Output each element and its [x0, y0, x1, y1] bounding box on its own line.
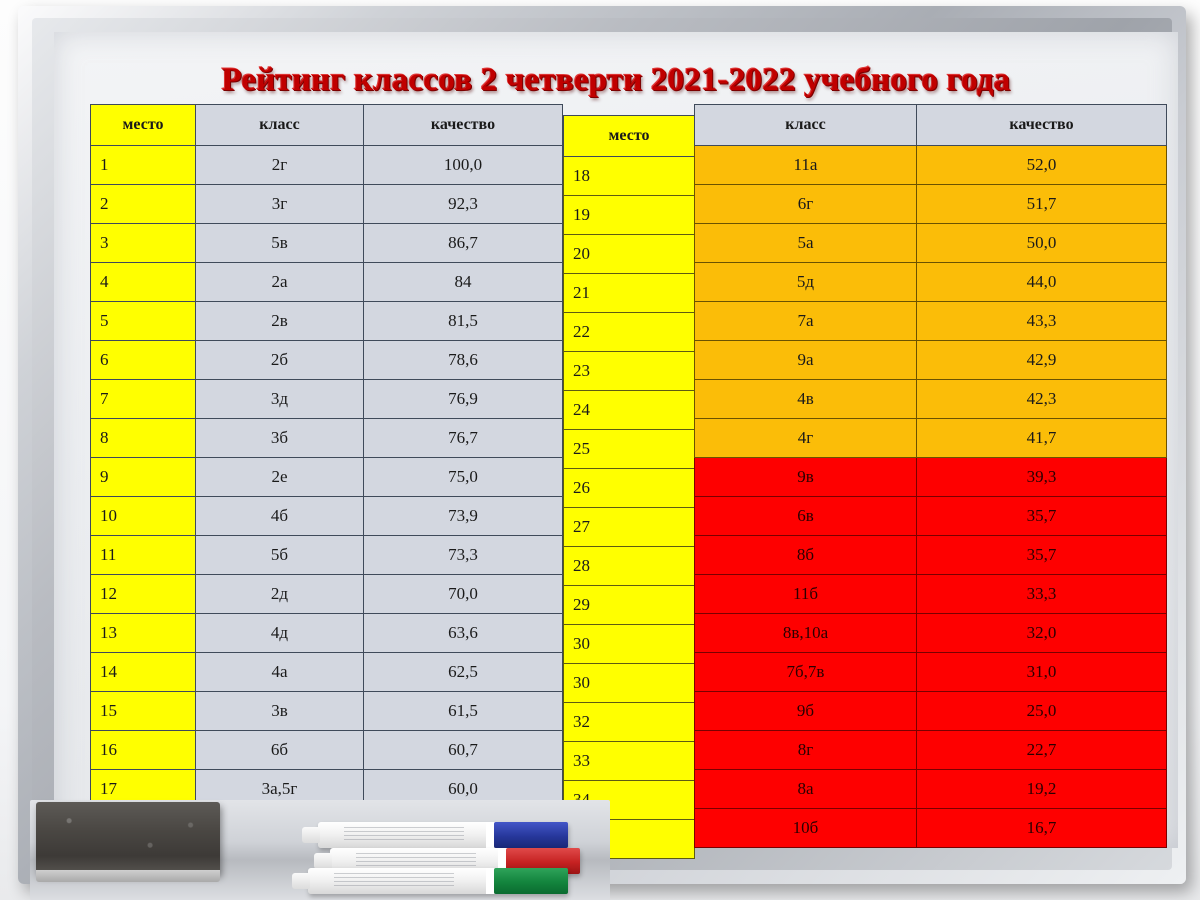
column-header-quality: качество	[917, 105, 1167, 146]
cell-class: 2г	[196, 146, 364, 185]
table-row: 35в86,7	[91, 224, 563, 263]
table-row: 9а42,9	[695, 341, 1167, 380]
table-row: 6в35,7	[695, 497, 1167, 536]
table-row: 8г22,7	[695, 731, 1167, 770]
cell-quality: 84	[364, 263, 563, 302]
cell-place: 26	[564, 469, 695, 508]
cell-quality: 81,5	[364, 302, 563, 341]
whiteboard-eraser[interactable]	[36, 802, 220, 874]
cell-place: 32	[564, 703, 695, 742]
table-row: 29	[564, 586, 695, 625]
whiteboard-scene: Рейтинг классов 2 четверти 2021-2022 уче…	[0, 0, 1200, 900]
cell-class: 5а	[695, 224, 917, 263]
table-row: 26	[564, 469, 695, 508]
cell-quality: 92,3	[364, 185, 563, 224]
table-row: 62б78,6	[91, 341, 563, 380]
cell-place: 20	[564, 235, 695, 274]
column-header-place: место	[91, 105, 196, 146]
table-row: 19	[564, 196, 695, 235]
column-header-class: класс	[695, 105, 917, 146]
table-header-row: место	[564, 116, 695, 157]
cell-quality: 60,7	[364, 731, 563, 770]
cell-class: 2б	[196, 341, 364, 380]
table-row: 12г100,0	[91, 146, 563, 185]
cell-place: 28	[564, 547, 695, 586]
cell-quality: 62,5	[364, 653, 563, 692]
marker-label	[356, 853, 476, 869]
cell-quality: 73,9	[364, 497, 563, 536]
table-row: 5а50,0	[695, 224, 1167, 263]
cell-quality: 63,6	[364, 614, 563, 653]
table-row: 27	[564, 508, 695, 547]
eraser-felt	[36, 870, 220, 882]
ranking-table-right-data: класс качество 11а52,06г51,75а50,05д44,0…	[694, 104, 1167, 848]
table-row: 8в,10а32,0	[695, 614, 1167, 653]
ranking-table-left-body: 12г100,023г92,335в86,742а8452в81,562б78,…	[91, 146, 563, 848]
table-row: 20	[564, 235, 695, 274]
table-row: 25	[564, 430, 695, 469]
cell-place: 11	[91, 536, 196, 575]
cell-quality: 35,7	[917, 536, 1167, 575]
cell-quality: 61,5	[364, 692, 563, 731]
ranking-table-right-place-body: 1819202122232425262728293030323334	[564, 157, 695, 859]
cell-class: 7а	[695, 302, 917, 341]
cell-quality: 75,0	[364, 458, 563, 497]
cell-place: 23	[564, 352, 695, 391]
cell-place: 19	[564, 196, 695, 235]
cell-class: 4г	[695, 419, 917, 458]
marker-tip	[292, 873, 310, 889]
cell-quality: 43,3	[917, 302, 1167, 341]
marker-label	[334, 873, 454, 889]
cell-quality: 25,0	[917, 692, 1167, 731]
table-row: 4г41,7	[695, 419, 1167, 458]
table-row: 18	[564, 157, 695, 196]
table-row: 166б60,7	[91, 731, 563, 770]
whiteboard-frame: Рейтинг классов 2 четверти 2021-2022 уче…	[18, 6, 1186, 884]
cell-class: 5д	[695, 263, 917, 302]
cell-class: 4б	[196, 497, 364, 536]
table-row: 5д44,0	[695, 263, 1167, 302]
table-row: 11б33,3	[695, 575, 1167, 614]
column-header-place: место	[564, 116, 695, 157]
table-row: 8а19,2	[695, 770, 1167, 809]
cell-class: 2е	[196, 458, 364, 497]
cell-place: 22	[564, 313, 695, 352]
table-row: 23г92,3	[91, 185, 563, 224]
cell-quality: 22,7	[917, 731, 1167, 770]
marker-ring	[486, 868, 494, 894]
cell-quality: 50,0	[917, 224, 1167, 263]
marker-cap	[494, 868, 568, 894]
table-row: 7а43,3	[695, 302, 1167, 341]
cell-class: 5б	[196, 536, 364, 575]
cell-place: 27	[564, 508, 695, 547]
cell-class: 7б,7в	[695, 653, 917, 692]
cell-place: 14	[91, 653, 196, 692]
marker-tip	[302, 827, 320, 843]
table-row: 21	[564, 274, 695, 313]
column-header-class: класс	[196, 105, 364, 146]
column-header-quality: качество	[364, 105, 563, 146]
cell-class: 11б	[695, 575, 917, 614]
cell-place: 25	[564, 430, 695, 469]
cell-class: 2в	[196, 302, 364, 341]
cell-class: 10б	[695, 809, 917, 848]
cell-place: 12	[91, 575, 196, 614]
cell-class: 3д	[196, 380, 364, 419]
cell-quality: 76,7	[364, 419, 563, 458]
cell-place: 30	[564, 664, 695, 703]
cell-quality: 51,7	[917, 185, 1167, 224]
cell-quality: 42,9	[917, 341, 1167, 380]
page-title: Рейтинг классов 2 четверти 2021-2022 уче…	[54, 62, 1178, 99]
table-row: 134д63,6	[91, 614, 563, 653]
cell-place: 8	[91, 419, 196, 458]
table-row: 92е75,0	[91, 458, 563, 497]
cell-place: 21	[564, 274, 695, 313]
marker-label	[344, 827, 464, 843]
table-row: 23	[564, 352, 695, 391]
cell-class: 3г	[196, 185, 364, 224]
table-row: 42а84	[91, 263, 563, 302]
table-row: 144а62,5	[91, 653, 563, 692]
table-row: 9б25,0	[695, 692, 1167, 731]
cell-quality: 100,0	[364, 146, 563, 185]
cell-place: 1	[91, 146, 196, 185]
table-row: 7б,7в31,0	[695, 653, 1167, 692]
cell-class: 9в	[695, 458, 917, 497]
cell-quality: 35,7	[917, 497, 1167, 536]
marker-blue[interactable]	[318, 822, 568, 848]
cell-place: 9	[91, 458, 196, 497]
cell-class: 8б	[695, 536, 917, 575]
cell-class: 3б	[196, 419, 364, 458]
marker-green[interactable]	[308, 868, 568, 894]
table-row: 11а52,0	[695, 146, 1167, 185]
cell-class: 4в	[695, 380, 917, 419]
cell-class: 2а	[196, 263, 364, 302]
cell-quality: 39,3	[917, 458, 1167, 497]
table-row: 122д70,0	[91, 575, 563, 614]
cell-class: 8а	[695, 770, 917, 809]
table-row: 24	[564, 391, 695, 430]
cell-quality: 86,7	[364, 224, 563, 263]
cell-place: 15	[91, 692, 196, 731]
cell-quality: 33,3	[917, 575, 1167, 614]
table-row: 73д76,9	[91, 380, 563, 419]
cell-quality: 19,2	[917, 770, 1167, 809]
cell-quality: 78,6	[364, 341, 563, 380]
table-row: 8б35,7	[695, 536, 1167, 575]
cell-class: 2д	[196, 575, 364, 614]
cell-place: 16	[91, 731, 196, 770]
cell-quality: 70,0	[364, 575, 563, 614]
cell-class: 3в	[196, 692, 364, 731]
marker-ring	[486, 822, 494, 848]
table-row: 52в81,5	[91, 302, 563, 341]
table-row: 6г51,7	[695, 185, 1167, 224]
cell-class: 6г	[695, 185, 917, 224]
cell-class: 5в	[196, 224, 364, 263]
table-row: 30	[564, 625, 695, 664]
cell-place: 24	[564, 391, 695, 430]
table-row: 115б73,3	[91, 536, 563, 575]
cell-place: 6	[91, 341, 196, 380]
table-row: 32	[564, 703, 695, 742]
marker-cap	[494, 822, 568, 848]
cell-quality: 42,3	[917, 380, 1167, 419]
cell-place: 4	[91, 263, 196, 302]
cell-class: 4а	[196, 653, 364, 692]
cell-place: 33	[564, 742, 695, 781]
table-row: 33	[564, 742, 695, 781]
cell-quality: 76,9	[364, 380, 563, 419]
cell-quality: 32,0	[917, 614, 1167, 653]
table-row: 104б73,9	[91, 497, 563, 536]
cell-place: 18	[564, 157, 695, 196]
table-header-row: место класс качество	[91, 105, 563, 146]
table-row: 83б76,7	[91, 419, 563, 458]
table-row: 28	[564, 547, 695, 586]
table-row: 30	[564, 664, 695, 703]
table-row: 153в61,5	[91, 692, 563, 731]
cell-quality: 31,0	[917, 653, 1167, 692]
cell-class: 9а	[695, 341, 917, 380]
marker-tip	[314, 853, 332, 869]
cell-place: 3	[91, 224, 196, 263]
cell-class: 6в	[695, 497, 917, 536]
cell-quality: 16,7	[917, 809, 1167, 848]
ranking-table-left: место класс качество 12г100,023г92,335в8…	[90, 104, 563, 848]
cell-class: 9б	[695, 692, 917, 731]
cell-class: 11а	[695, 146, 917, 185]
cell-quality: 41,7	[917, 419, 1167, 458]
cell-place: 13	[91, 614, 196, 653]
cell-place: 10	[91, 497, 196, 536]
table-row: 10б16,7	[695, 809, 1167, 848]
cell-place: 5	[91, 302, 196, 341]
cell-quality: 44,0	[917, 263, 1167, 302]
whiteboard-surface: Рейтинг классов 2 четверти 2021-2022 уче…	[54, 32, 1178, 848]
table-row: 9в39,3	[695, 458, 1167, 497]
cell-class: 8г	[695, 731, 917, 770]
ranking-table-right-place: место 1819202122232425262728293030323334	[563, 115, 695, 859]
cell-place: 7	[91, 380, 196, 419]
cell-quality: 73,3	[364, 536, 563, 575]
cell-class: 4д	[196, 614, 364, 653]
cell-place: 30	[564, 625, 695, 664]
table-row: 22	[564, 313, 695, 352]
table-row: 4в42,3	[695, 380, 1167, 419]
cell-quality: 52,0	[917, 146, 1167, 185]
ranking-table-right-data-body: 11а52,06г51,75а50,05д44,07а43,39а42,94в4…	[695, 146, 1167, 848]
cell-place: 2	[91, 185, 196, 224]
cell-place: 29	[564, 586, 695, 625]
cell-class: 6б	[196, 731, 364, 770]
table-header-row: класс качество	[695, 105, 1167, 146]
ranking-tables: место класс качество 12г100,023г92,335в8…	[90, 104, 1166, 790]
cell-class: 8в,10а	[695, 614, 917, 653]
